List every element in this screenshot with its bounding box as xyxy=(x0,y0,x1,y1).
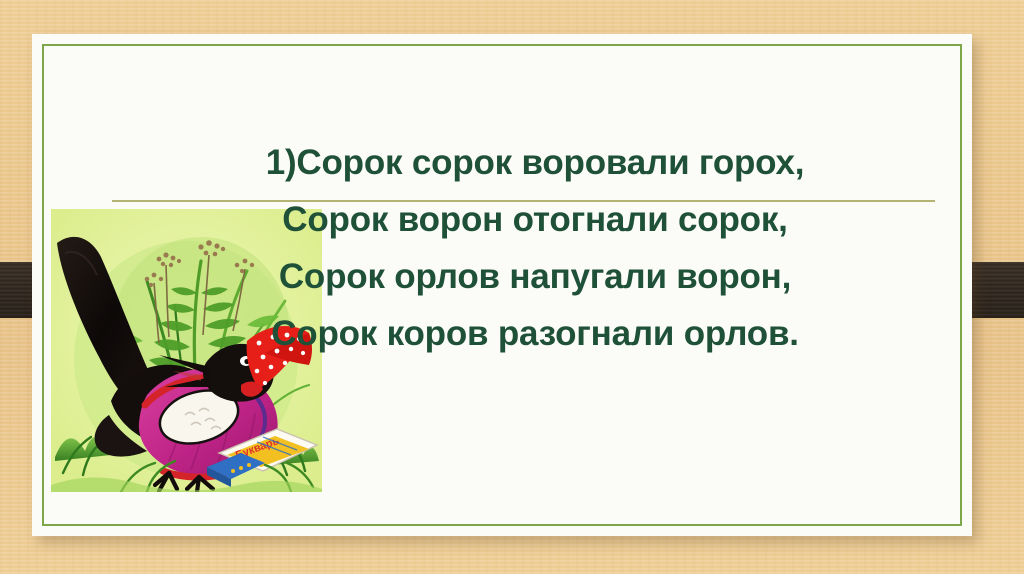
verse-line-1: 1)Сорок сорок воровали горох, xyxy=(112,134,958,191)
content-card: Букварь xyxy=(32,34,972,536)
verse-line-4: Сорок коров разогнали орлов. xyxy=(112,305,958,362)
verse-line-2: Сорок ворон отогнали сорок, xyxy=(112,191,958,248)
verse-line-3: Сорок орлов напугали ворон, xyxy=(112,248,958,305)
ribbon-bar-right xyxy=(968,262,1024,318)
verse-block: 1)Сорок сорок воровали горох, Сорок воро… xyxy=(112,134,958,362)
slide-root: Букварь xyxy=(0,0,1024,574)
